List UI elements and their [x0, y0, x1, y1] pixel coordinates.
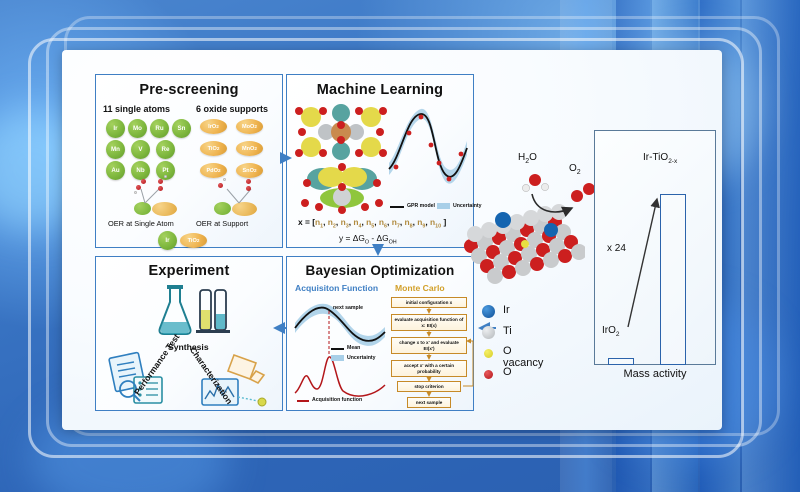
- oxide-chip: TiO2: [200, 141, 227, 156]
- legend-label-acquisition-function: Acquisition function: [312, 397, 362, 403]
- oxide-chip: IrO2: [200, 119, 227, 134]
- atom-chip: Sn: [172, 119, 191, 138]
- atom-chip: Mn: [106, 140, 125, 159]
- reaction-arrow: [528, 188, 588, 222]
- subheading-monte-carlo: Monte Carlo: [395, 283, 445, 293]
- mass-activity-chart: IrO2 Ir-TiO2-x x 24: [594, 130, 716, 365]
- oxygen-dot: [141, 179, 146, 184]
- atom-chip: Ir: [106, 119, 125, 138]
- label-h2o: H2O: [518, 152, 537, 165]
- subheading-single-atoms: 11 single atoms: [103, 104, 170, 114]
- legend-dot-o: [484, 370, 493, 379]
- structure-model-top-view: [295, 103, 387, 161]
- oxygen-dot: [136, 185, 141, 190]
- synthesis-icon: [154, 284, 234, 340]
- legend-dot-o-vacancy: [484, 349, 493, 358]
- panel-title-pre-screening: Pre-screening: [96, 82, 282, 98]
- oxide-chip: MoO2: [236, 119, 263, 134]
- chart-xlabel: Mass activity: [594, 368, 716, 380]
- legend-dot-ti: [482, 326, 495, 339]
- atom-chip: Nb: [131, 161, 150, 180]
- panel-title-experiment: Experiment: [96, 263, 282, 279]
- hydrogen-dot: [223, 178, 226, 181]
- atom-chip: Mo: [128, 119, 147, 138]
- annotation-next-sample: next sample: [333, 305, 363, 311]
- legend-label-mean: Mean: [347, 345, 360, 351]
- chart-growth-arrow: [614, 185, 674, 335]
- atom-chip: V: [131, 140, 150, 159]
- arrow-bo-to-experiment: [272, 322, 292, 338]
- oer-label-single-atom: OER at Single Atom: [108, 219, 174, 228]
- equation-target: y = ΔGO - ΔGOH: [339, 233, 397, 246]
- gpr-plot: [387, 105, 469, 200]
- panel-bayesian-optimization: Bayesian Optimization Acquisiton Functio…: [286, 256, 474, 411]
- chart-label-ir-tio2x: Ir-TiO2-x: [643, 152, 677, 165]
- selected-support-chip: TiO2: [180, 233, 207, 248]
- flow-connectors: [387, 295, 477, 411]
- selected-atom-chip: Ir: [158, 231, 177, 250]
- atom-chip: Au: [106, 161, 125, 180]
- structure-model-side-view: [297, 163, 387, 218]
- oxygen-dot: [246, 186, 251, 191]
- subheading-acquisition-function: Acquisiton Function: [295, 283, 378, 293]
- panel-experiment: Experiment Synthesis: [95, 256, 283, 411]
- legend-swatch-acquisition: [297, 400, 309, 402]
- panel-title-bayesian-optimization: Bayesian Optimization: [287, 263, 473, 278]
- panel-machine-learning: Machine Learning: [286, 74, 474, 248]
- panel-title-machine-learning: Machine Learning: [287, 82, 473, 98]
- legend-label-ti: Ti: [503, 325, 512, 337]
- label-o2: O2: [569, 163, 581, 176]
- legend-dot-ir: [482, 305, 495, 318]
- oxide-chip: PdO2: [200, 163, 227, 178]
- oxide-chip: SnO2: [236, 163, 263, 178]
- subheading-oxide-supports: 6 oxide supports: [196, 104, 268, 114]
- oer-label-support: OER at Support: [196, 219, 248, 228]
- legend-label-uncertainty-bo: Uncertainty: [347, 355, 376, 361]
- equation-feature-vector: x = [n1, n2, n3, n4, n5, n6, n7, n8, n9,…: [298, 217, 446, 230]
- atom-chip: Ru: [150, 119, 169, 138]
- legend-swatch-uncertainty: [437, 203, 450, 209]
- legend-label-gpr-model: GPR model: [407, 203, 435, 209]
- legend-swatch-mean: [331, 348, 344, 350]
- arrow-ml-to-bo: [372, 246, 388, 262]
- panel-pre-screening: Pre-screening 11 single atoms 6 oxide su…: [95, 74, 283, 248]
- oxygen-dot: [158, 179, 163, 184]
- oxide-chip: MnO2: [236, 141, 263, 156]
- atom-chip: Re: [156, 140, 175, 159]
- oxygen-dot: [158, 186, 163, 191]
- legend-swatch-gpr-line: [390, 206, 404, 208]
- legend-label-o: O: [503, 366, 512, 378]
- bar-iro2: [608, 358, 634, 365]
- legend-swatch-uncertainty-bo: [331, 355, 344, 361]
- legend-label-ir: Ir: [503, 304, 510, 316]
- chart-annotation-multiplier: x 24: [607, 243, 626, 254]
- oxygen-dot: [218, 183, 223, 188]
- arrow-pre-to-ml: [280, 150, 296, 172]
- oxygen-dot: [246, 179, 251, 184]
